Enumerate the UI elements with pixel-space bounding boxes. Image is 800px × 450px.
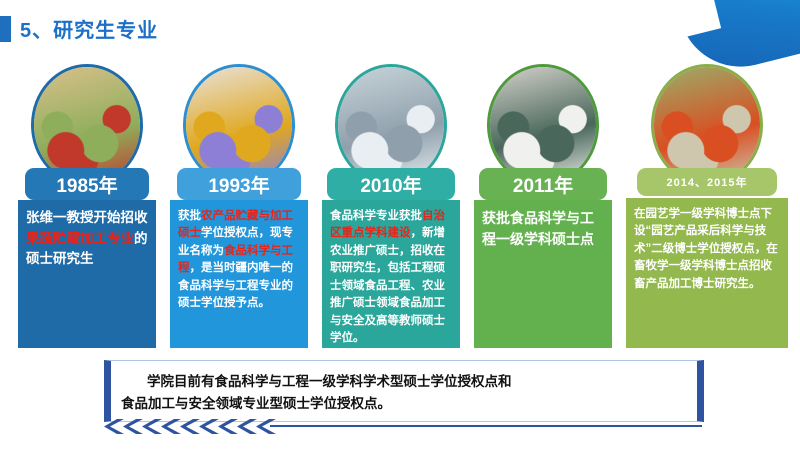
timeline-card: 2014、2015年在园艺学一级学科博士点下设“园艺产品采后科学与技术”二级博士… (626, 62, 788, 350)
summary-line-1: 学院目前有食品科学与工程一级学科学术型硕士学位授权点和 (147, 374, 512, 389)
card-body-text: 食品科学专业获批自治区重点学科建设，新增农业推广硕士，招收在职研究生，包括工程硕… (322, 200, 460, 348)
card-text-segment: ，新增农业推广硕士，招收在职研究生，包括工程硕士领域食品工程、农业推广硕士领域食… (330, 227, 445, 344)
chevron-decoration-icon (98, 418, 698, 436)
timeline-card: 1993年获批农产品贮藏与加工硕士学位授权点，现专业名称为食品科学与工程，是当时… (170, 62, 308, 350)
card-body-text: 张维一教授开始招收果蔬贮藏加工专业的硕士研究生 (18, 200, 156, 348)
summary-box: 学院目前有食品科学与工程一级学科学术型硕士学位授权点和 食品加工与安全领域专业型… (104, 360, 704, 422)
timeline-card-row: 1985年张维一教授开始招收果蔬贮藏加工专业的硕士研究生1993年获批农产品贮藏… (18, 62, 788, 350)
timeline-card: 1985年张维一教授开始招收果蔬贮藏加工专业的硕士研究生 (18, 62, 156, 350)
card-body-text: 在园艺学一级学科博士点下设“园艺产品采后科学与技术”二级博士学位授权点，在畜牧学… (626, 198, 788, 348)
timeline-card: 2011年获批食品科学与工程一级学科硕士点 (474, 62, 612, 350)
card-text-segment: ，是当时疆内唯一的食品科学与工程专业的硕士学位授予点。 (178, 262, 293, 309)
slide-root: 5、研究生专业 1985年张维一教授开始招收果蔬贮藏加工专业的硕士研究生1993… (0, 0, 800, 450)
photo-image (186, 67, 292, 183)
summary-text: 学院目前有食品科学与工程一级学科学术型硕士学位授权点和 食品加工与安全领域专业型… (111, 361, 697, 415)
card-text-segment: 张维一教授开始招收 (26, 210, 148, 225)
card-year-label: 2011年 (479, 168, 607, 200)
photo-image (654, 67, 760, 183)
title-accent-bar (0, 16, 11, 42)
summary-line-2: 食品加工与安全领域专业型硕士学位授权点。 (121, 393, 683, 415)
timeline-card: 2010年食品科学专业获批自治区重点学科建设，新增农业推广硕士，招收在职研究生，… (322, 62, 460, 350)
card-year-label: 1985年 (25, 168, 149, 200)
card-text-segment: 获批 (178, 210, 201, 222)
photo-image (34, 67, 140, 183)
card-text-highlight: 果蔬贮藏加工专业 (26, 231, 134, 246)
card-year-label: 2010年 (327, 168, 455, 200)
card-year-label: 1993年 (177, 168, 301, 200)
card-year-label: 2014、2015年 (637, 168, 777, 196)
photo-image (490, 67, 596, 183)
page-title: 5、研究生专业 (20, 14, 158, 43)
card-text-segment: 在园艺学一级学科博士点下设“园艺产品采后科学与技术”二级博士学位授权点，在畜牧学… (634, 208, 778, 290)
photo-image (338, 67, 444, 183)
summary-underline (270, 425, 702, 427)
card-body-text: 获批食品科学与工程一级学科硕士点 (474, 200, 612, 348)
card-body-text: 获批农产品贮藏与加工硕士学位授权点，现专业名称为食品科学与工程，是当时疆内唯一的… (170, 200, 308, 348)
card-text-segment: 获批食品科学与工程一级学科硕士点 (482, 210, 594, 247)
card-text-segment: 食品科学专业获批 (330, 210, 422, 222)
